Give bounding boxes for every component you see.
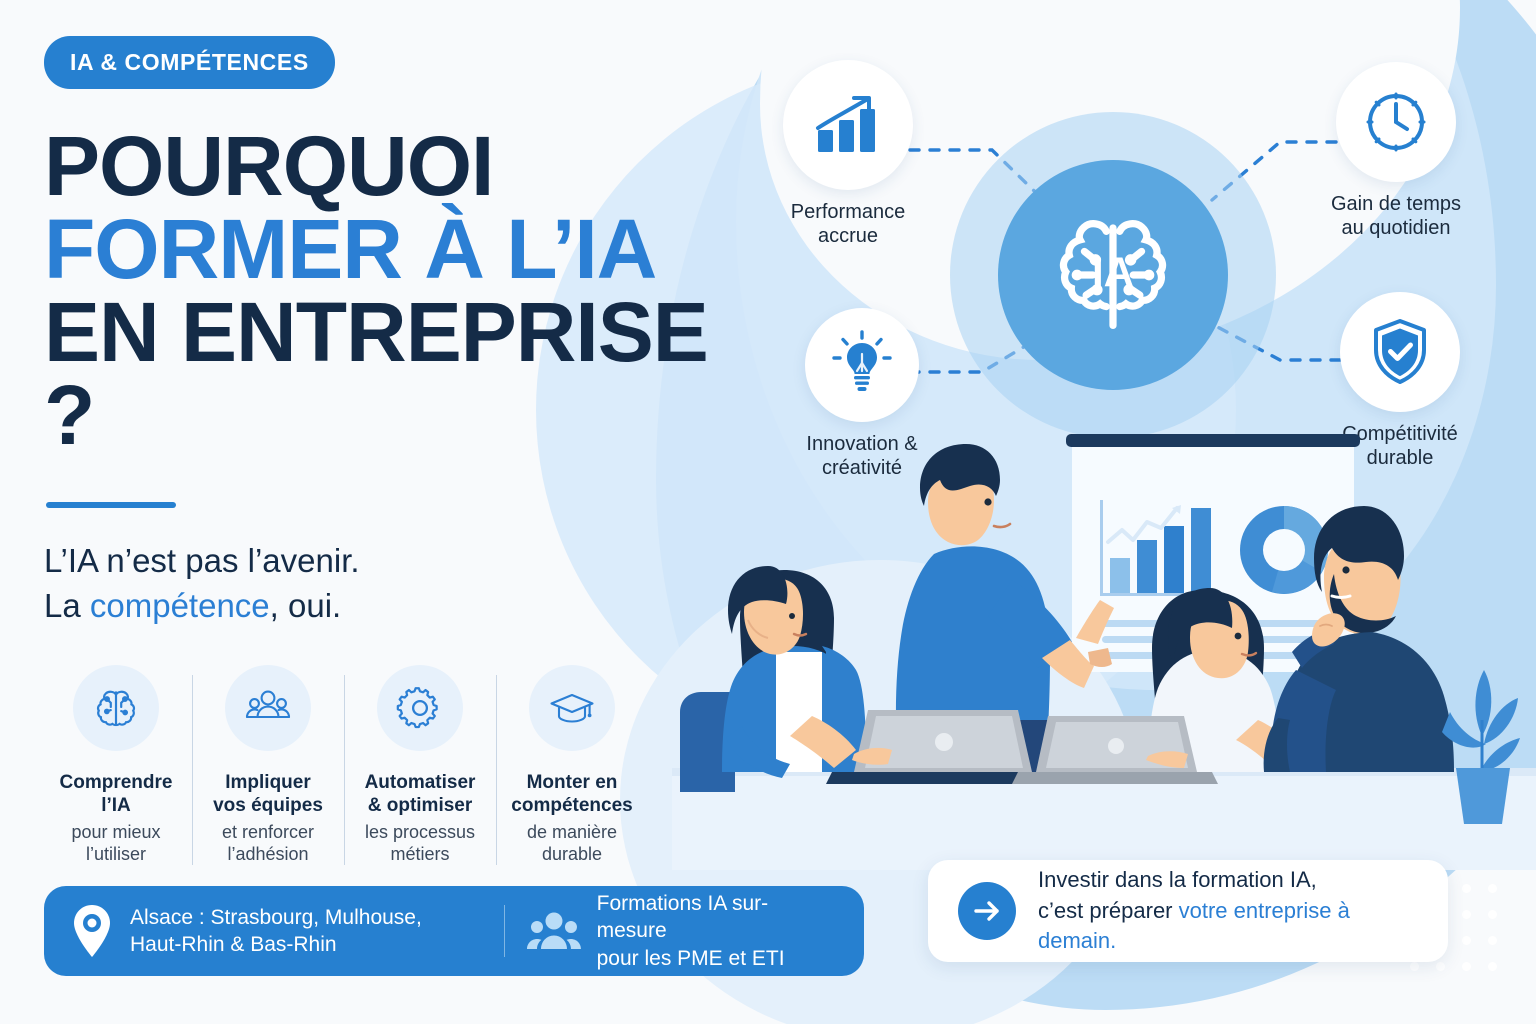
- hub-node-performance: Performance accrue: [768, 60, 928, 249]
- brain-circuit-icon: IA: [1029, 191, 1197, 359]
- location-pin-icon: [70, 903, 114, 959]
- page-title: POURQUOI FORMER À L’IA EN ENTREPRISE ?: [44, 125, 774, 458]
- hub-node-label-line1: Performance: [768, 200, 928, 224]
- info-bar-location-text: Alsace : Strasbourg, Mulhouse, Haut-Rhin…: [130, 904, 422, 959]
- subtitle-highlight: compétence: [90, 587, 270, 624]
- infographic-poster: IA & COMPÉTENCES POURQUOI FORMER À L’IA …: [0, 0, 1536, 1024]
- feature-subtitle: pour mieux l’utiliser: [46, 821, 186, 866]
- feature-title-line2: vos équipes: [198, 794, 338, 818]
- feature-subtitle: les processus métiers: [350, 821, 490, 866]
- team-training-illustration: [672, 420, 1536, 870]
- feature-sub-line2: l’adhésion: [198, 843, 338, 866]
- people-group-icon: [527, 909, 581, 953]
- subtitle-prefix: La: [44, 587, 90, 624]
- arrow-right-icon: [958, 882, 1016, 940]
- feature-title: Impliquer vos équipes: [198, 771, 338, 818]
- cta-line2: c’est préparer votre entreprise à demain…: [1038, 896, 1418, 957]
- cta-card[interactable]: Investir dans la formation IA, c’est pré…: [928, 860, 1448, 962]
- feature-subtitle: et renforcer l’adhésion: [198, 821, 338, 866]
- info-location-line2: Haut-Rhin & Bas-Rhin: [130, 931, 422, 958]
- feature-title-line1: Comprendre: [46, 771, 186, 795]
- left-content: IA & COMPÉTENCES POURQUOI FORMER À L’IA …: [44, 36, 774, 866]
- people-icon: [225, 665, 311, 751]
- feature-sub-line2: durable: [502, 843, 642, 866]
- feature-list: Comprendre l’IA pour mieux l’utiliser: [40, 665, 774, 866]
- hub-node-label-line2: accrue: [768, 224, 928, 248]
- brain-icon: [73, 665, 159, 751]
- feature-item-comprendre: Comprendre l’IA pour mieux l’utiliser: [40, 665, 192, 866]
- feature-title-line2: compétences: [502, 794, 642, 818]
- subtitle: L’IA n’est pas l’avenir. La compétence, …: [44, 538, 774, 629]
- headline-line-1: POURQUOI: [44, 125, 774, 208]
- feature-item-monter: Monter en compétences de manière durable: [496, 665, 648, 866]
- feature-sub-line1: les processus: [350, 821, 490, 844]
- title-underline-rule: [46, 502, 176, 508]
- bar-chart-growth-icon: [783, 60, 913, 190]
- hub-node-label: Performance accrue: [768, 200, 928, 249]
- feature-sub-line2: l’utiliser: [46, 843, 186, 866]
- info-bar: Alsace : Strasbourg, Mulhouse, Haut-Rhin…: [44, 886, 864, 976]
- info-audience-line1: Formations IA sur-mesure: [597, 890, 838, 945]
- info-bar-audience: Formations IA sur-mesure pour les PME et…: [527, 890, 838, 972]
- feature-sub-line1: pour mieux: [46, 821, 186, 844]
- info-audience-line2: pour les PME et ETI: [597, 945, 838, 972]
- feature-title-line1: Automatiser: [350, 771, 490, 795]
- graduation-cap-icon: [529, 665, 615, 751]
- hub-node-gain-de-temps: Gain de temps au quotidien: [1316, 62, 1476, 241]
- feature-title-line2: & optimiser: [350, 794, 490, 818]
- shield-check-icon: [1340, 292, 1460, 412]
- feature-title-line1: Monter en: [502, 771, 642, 795]
- person-woman-left: [722, 566, 866, 778]
- subtitle-line-2: La compétence, oui.: [44, 583, 774, 629]
- feature-title-line2: l’IA: [46, 794, 186, 818]
- hub-node-label-line2: au quotidien: [1316, 216, 1476, 240]
- hub-node-label: Gain de temps au quotidien: [1316, 192, 1476, 241]
- info-bar-location: Alsace : Strasbourg, Mulhouse, Haut-Rhin…: [70, 903, 500, 959]
- hub-center-ia: IA: [998, 160, 1228, 390]
- headline-line-2: FORMER À L’IA: [44, 208, 774, 291]
- headline-line-3: EN ENTREPRISE ?: [44, 291, 774, 457]
- info-bar-divider: [504, 905, 505, 957]
- feature-title: Automatiser & optimiser: [350, 771, 490, 818]
- feature-item-automatiser: Automatiser & optimiser les processus mé…: [344, 665, 496, 866]
- cta-text: Investir dans la formation IA, c’est pré…: [1038, 865, 1418, 956]
- info-location-line1: Alsace : Strasbourg, Mulhouse,: [130, 904, 422, 931]
- gear-icon: [377, 665, 463, 751]
- subtitle-line-1: L’IA n’est pas l’avenir.: [44, 538, 774, 584]
- hub-node-label-line1: Gain de temps: [1316, 192, 1476, 216]
- clock-icon: [1336, 62, 1456, 182]
- category-badge: IA & COMPÉTENCES: [44, 36, 335, 89]
- cta-line2-prefix: c’est préparer: [1038, 898, 1179, 923]
- feature-sub-line1: de manière: [502, 821, 642, 844]
- feature-subtitle: de manière durable: [502, 821, 642, 866]
- hub-center-label: IA: [1092, 249, 1134, 296]
- info-bar-audience-text: Formations IA sur-mesure pour les PME et…: [597, 890, 838, 972]
- subtitle-suffix: , oui.: [270, 587, 342, 624]
- lightbulb-icon: [805, 308, 919, 422]
- feature-title: Monter en compétences: [502, 771, 642, 818]
- feature-sub-line2: métiers: [350, 843, 490, 866]
- feature-sub-line1: et renforcer: [198, 821, 338, 844]
- cta-line1: Investir dans la formation IA,: [1038, 865, 1418, 895]
- feature-title: Comprendre l’IA: [46, 771, 186, 818]
- feature-title-line1: Impliquer: [198, 771, 338, 795]
- feature-item-impliquer: Impliquer vos équipes et renforcer l’adh…: [192, 665, 344, 866]
